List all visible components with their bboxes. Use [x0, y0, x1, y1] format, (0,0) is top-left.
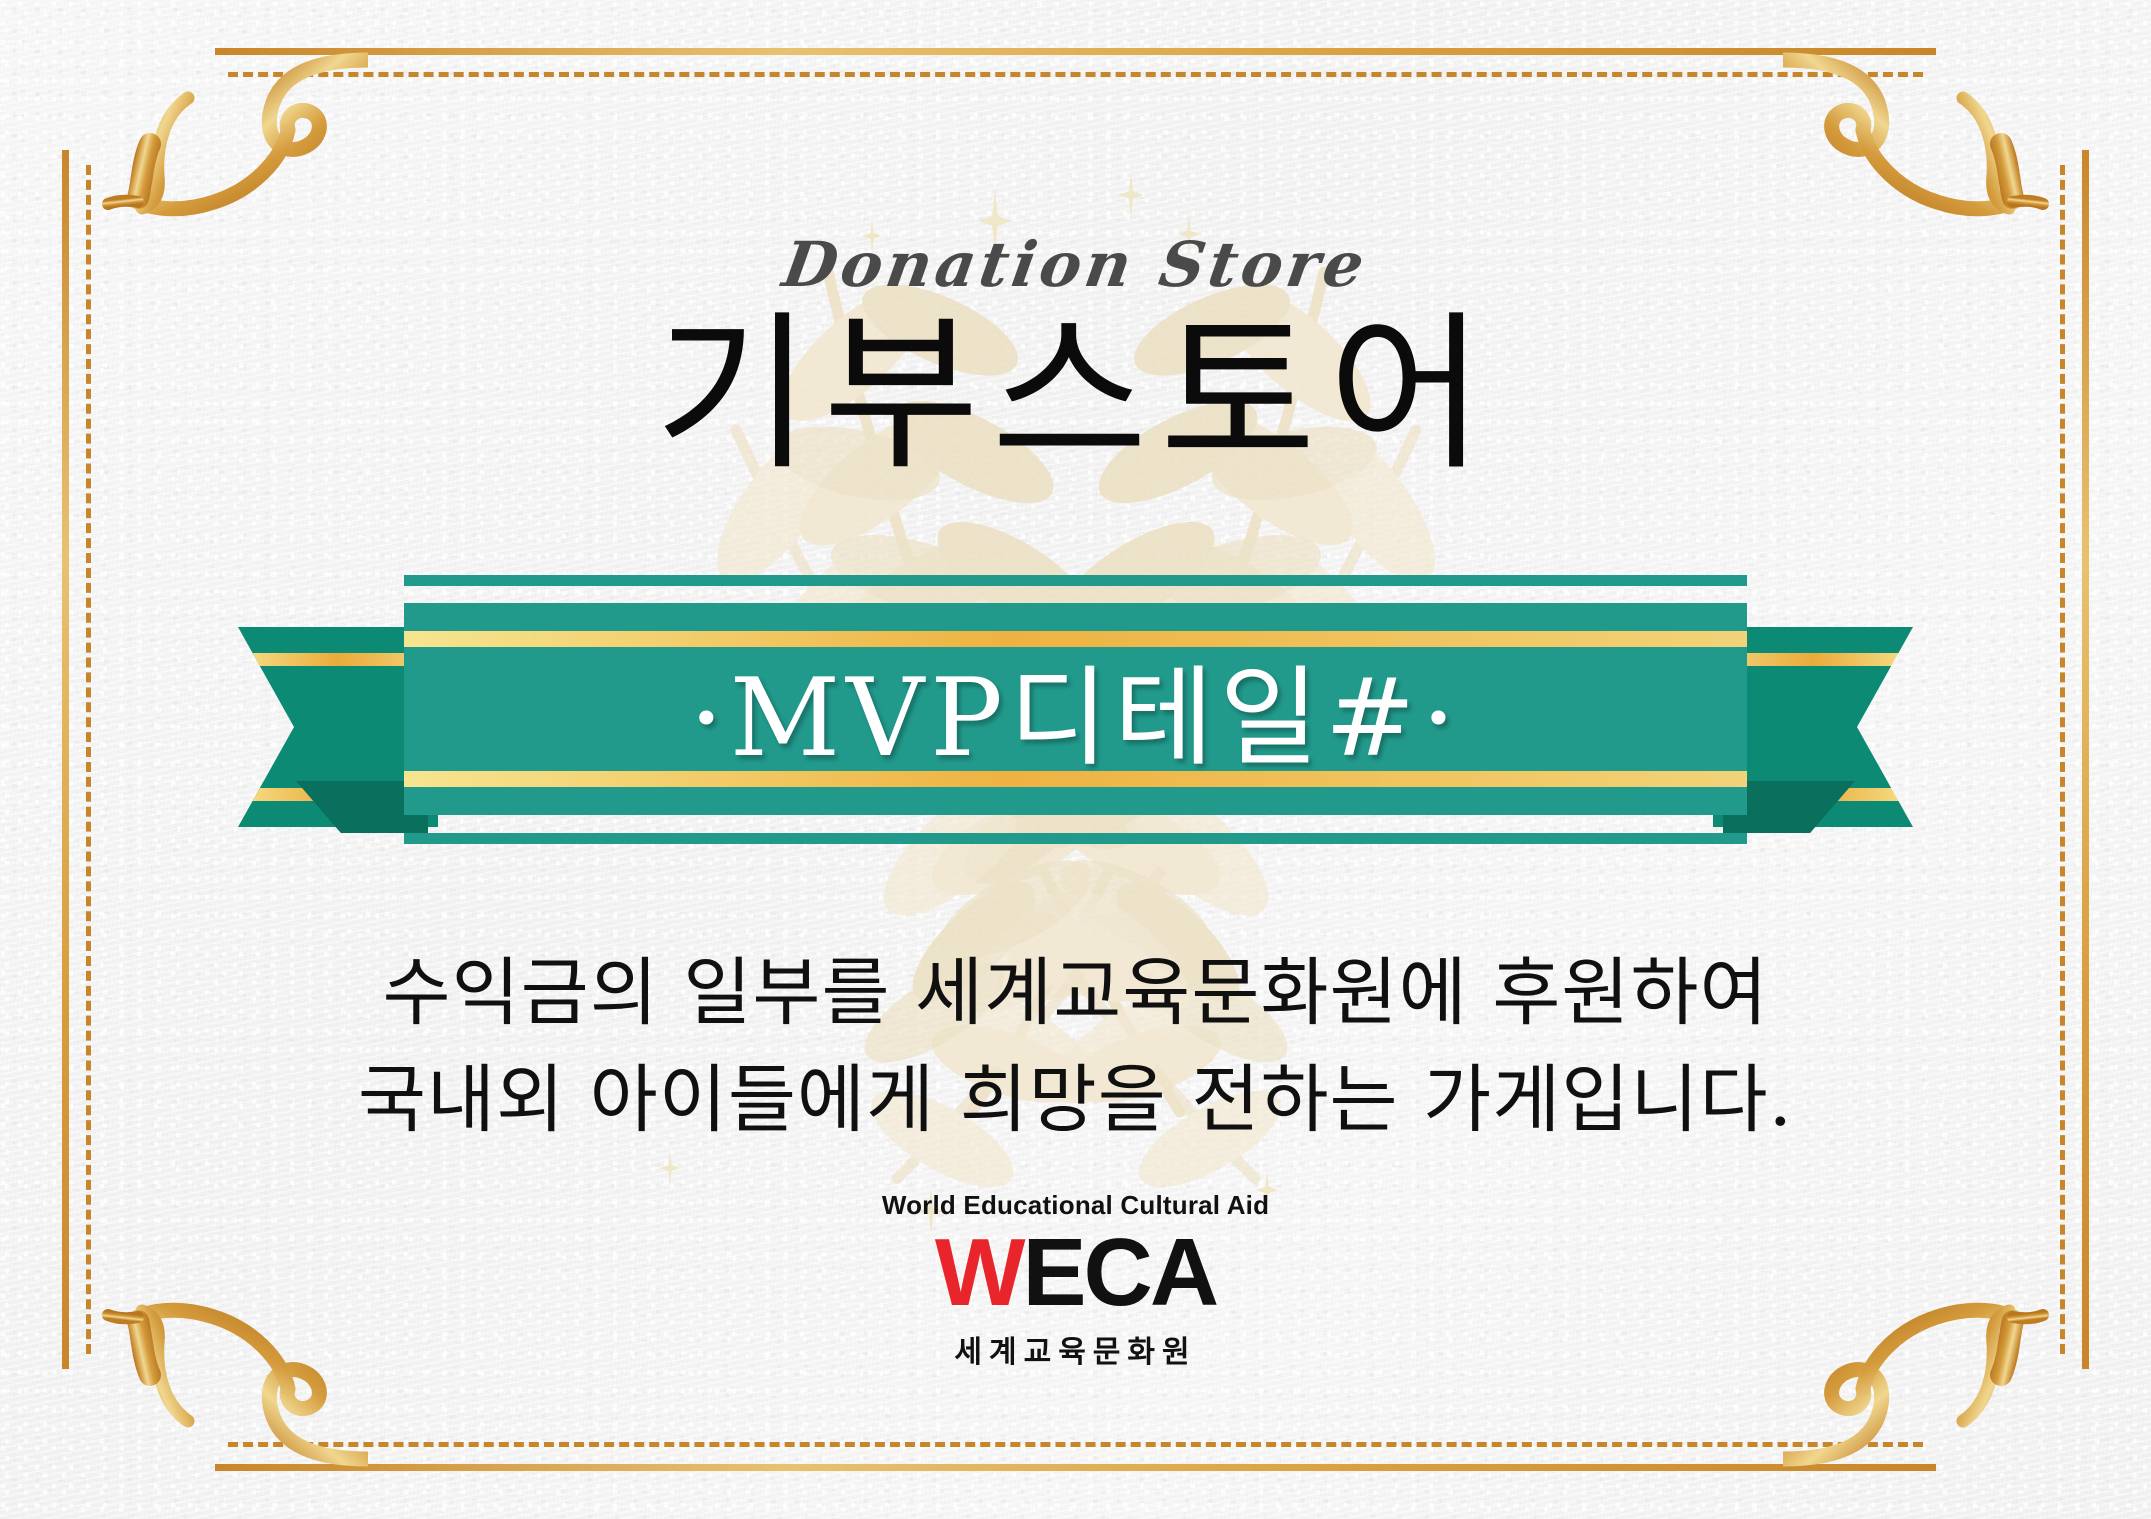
logo-korean-name: 세계교육문화원 — [0, 1327, 2151, 1371]
frame-dashed-top — [228, 72, 1923, 77]
script-subtitle: Donation Store — [0, 228, 2151, 301]
page-title: 기부스토어 — [0, 300, 2151, 490]
frame-dashed-bottom — [228, 1442, 1923, 1447]
logo-wordmark-w: W — [935, 1219, 1023, 1326]
certificate-card: Donation Store 기부스토어 ·MVP디테일#· 수익금의 일부를 … — [0, 0, 2151, 1519]
description-text: 수익금의 일부를 세계교육문화원에 후원하여 국내외 아이들에게 희망을 전하는… — [0, 940, 2151, 1155]
ribbon-label: ·MVP디테일#· — [0, 603, 2151, 815]
description-line-2: 국내외 아이들에게 희망을 전하는 가게입니다. — [0, 1047, 2151, 1154]
logo-tagline: World Educational Cultural Aid — [0, 1190, 2151, 1221]
ribbon-rail-bottom — [404, 833, 1747, 844]
logo-wordmark-eca: ECA — [1022, 1219, 1216, 1326]
description-line-1: 수익금의 일부를 세계교육문화원에 후원하여 — [0, 940, 2151, 1047]
sparkle-icon — [1118, 172, 1144, 218]
sparkle-icon — [660, 1150, 680, 1186]
logo-wordmark: WECA — [0, 1225, 2151, 1321]
weca-logo: World Educational Cultural Aid WECA 세계교육… — [0, 1190, 2151, 1371]
ribbon-banner: ·MVP디테일#· — [0, 545, 2151, 875]
frame-border-top — [215, 48, 1936, 55]
ribbon-rail-top — [404, 575, 1747, 586]
frame-border-bottom — [215, 1464, 1936, 1471]
